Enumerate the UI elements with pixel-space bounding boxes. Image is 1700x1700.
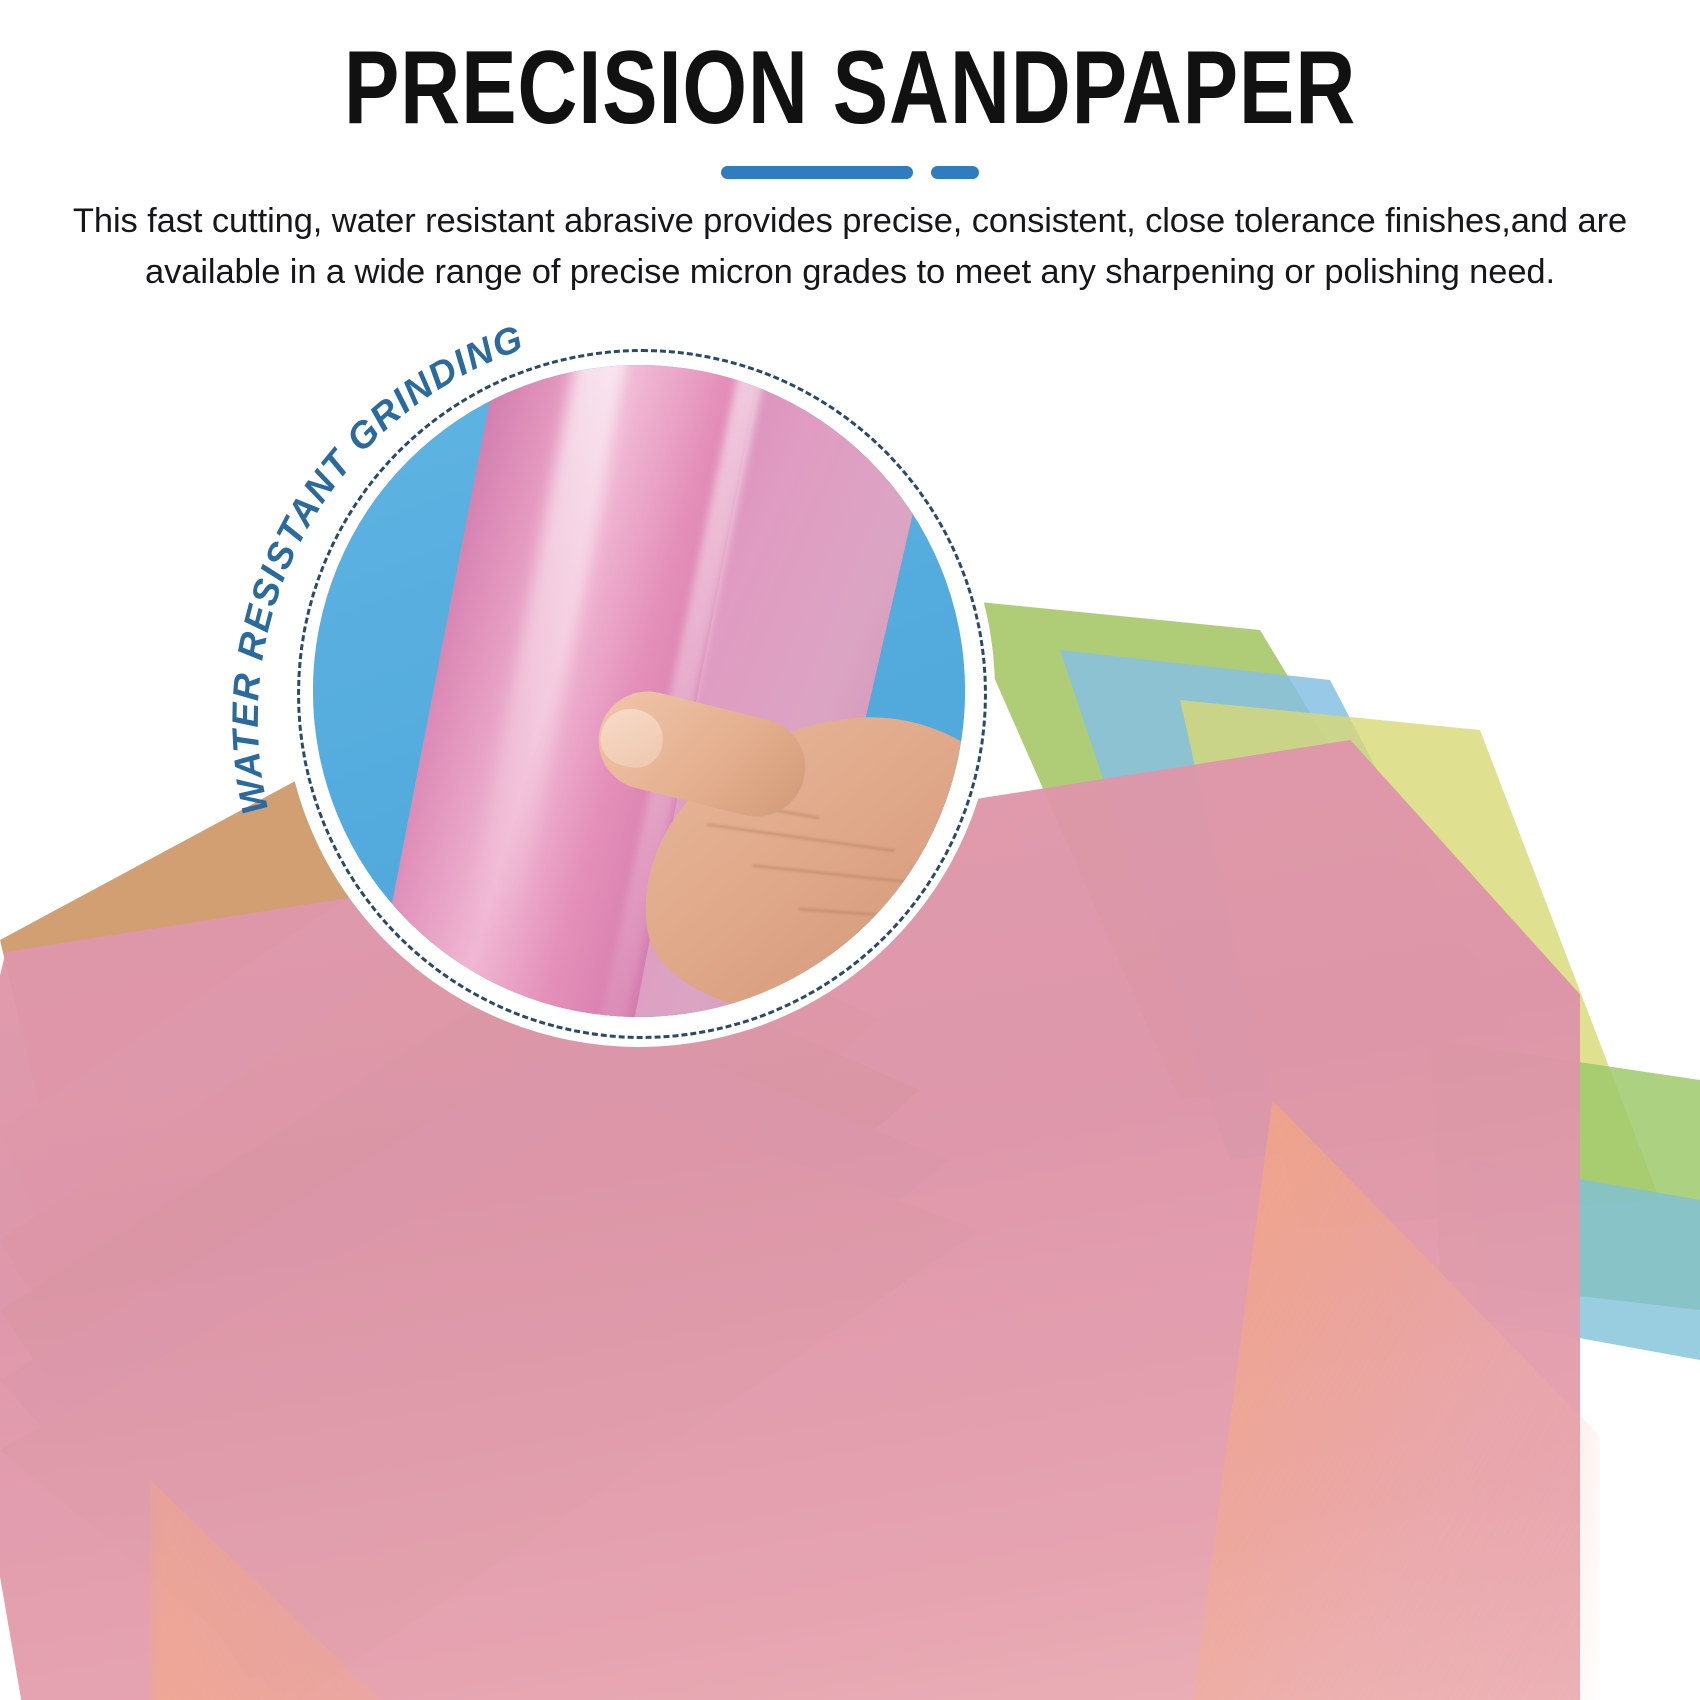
hand xyxy=(581,683,965,1017)
page-subtitle: This fast cutting, water resistant abras… xyxy=(55,196,1645,298)
knuckle-line xyxy=(707,823,896,852)
header-block: PRECISION SANDPAPER This fast cutting, w… xyxy=(0,0,1700,300)
page-title: PRECISION SANDPAPER xyxy=(170,34,1530,143)
divider xyxy=(0,166,1700,179)
inset-photo xyxy=(313,365,965,1017)
divider-bar-short xyxy=(931,166,979,179)
knuckle-line xyxy=(752,864,951,888)
divider-bar-long xyxy=(721,166,913,179)
product-infographic: PRECISION SANDPAPER This fast cutting, w… xyxy=(0,0,1700,1700)
knuckle-line xyxy=(798,908,965,924)
magnified-inset xyxy=(283,335,995,1047)
product-photo: WATER RESISTANT GRINDING xyxy=(0,300,1700,1700)
